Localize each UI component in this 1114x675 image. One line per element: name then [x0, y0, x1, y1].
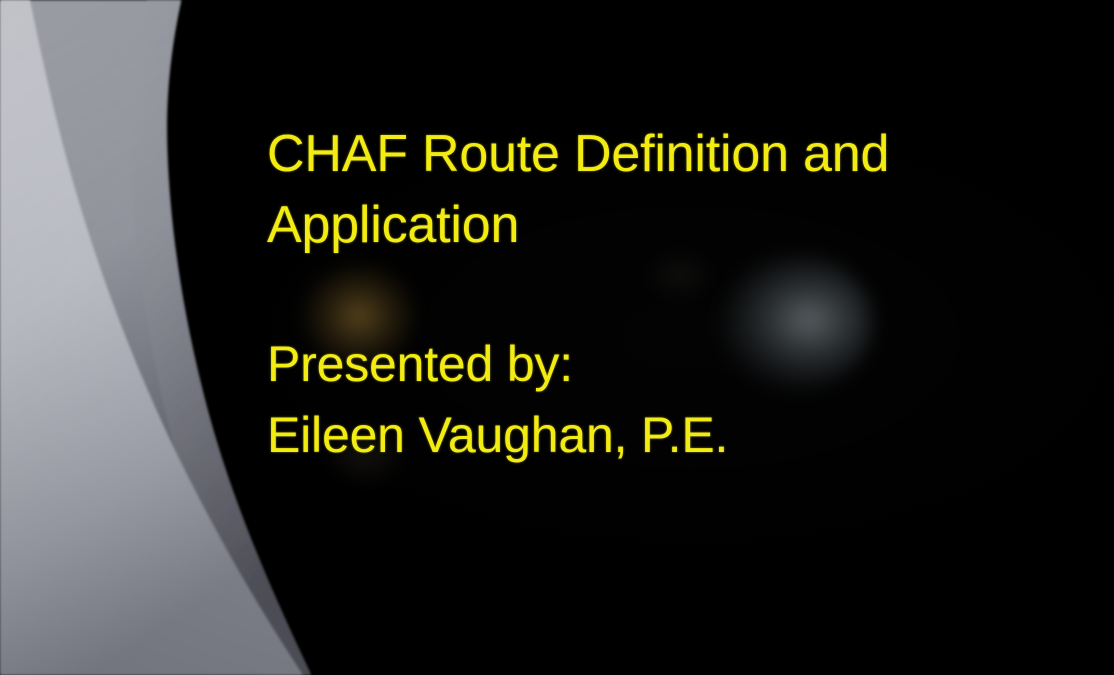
ribbon-light-gray	[0, 0, 303, 675]
presenter-name: Eileen Vaughan, P.E.	[267, 400, 1047, 471]
slide-text-block: CHAF Route Definition and Application Pr…	[267, 119, 1047, 471]
presented-by-label: Presented by:	[267, 329, 1047, 400]
slide-title: CHAF Route Definition and Application	[267, 119, 1047, 261]
presenter-block: Presented by: Eileen Vaughan, P.E.	[267, 329, 1047, 471]
title-line-1: CHAF Route Definition and	[267, 119, 1047, 190]
title-slide: CHAF Route Definition and Application Pr…	[0, 0, 1114, 675]
title-line-2: Application	[267, 190, 1047, 261]
ribbon-mid-gray	[0, 0, 311, 675]
